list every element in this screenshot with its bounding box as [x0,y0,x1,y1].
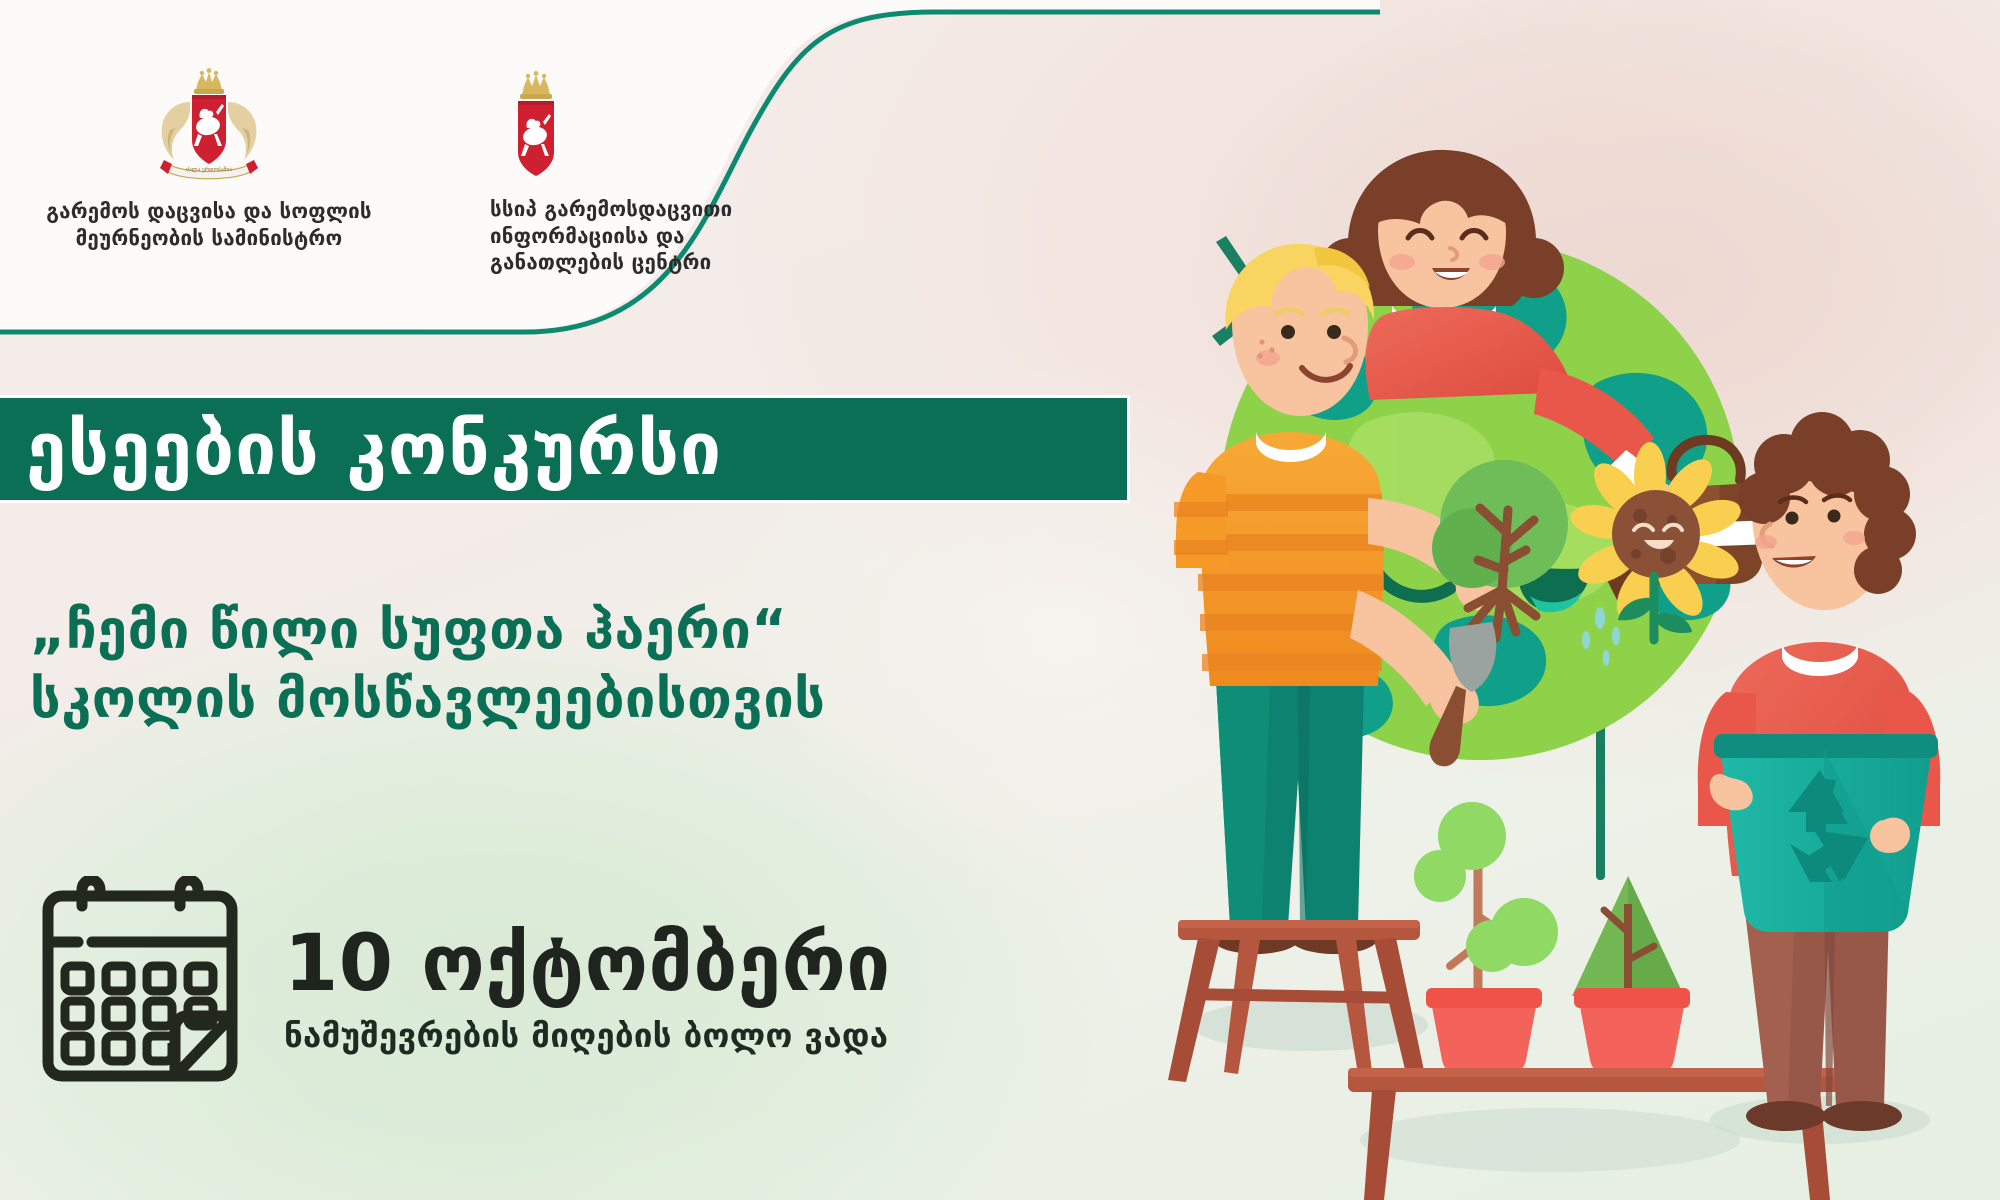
calendar-icon [34,876,246,1101]
deadline-date: 10 ოქტომბერი [284,925,891,1003]
svg-text:ძალა ერთობაშია: ძალა ერთობაშია [186,166,232,173]
recycling-bin [1710,734,1938,932]
deadline-text-block: 10 ოქტომბერი ნამუშევრების მიღების ბოლო ვ… [284,925,891,1052]
logo-center-caption: სსიპ გარემოსდაცვითი ინფორმაციისა და განა… [490,196,820,276]
logo-center: სსიპ გარემოსდაცვითი ინფორმაციისა და განა… [490,68,820,276]
subtitle-line-1: „ჩემი წილი სუფთა ჰაერი“ [30,595,1180,664]
potted-sapling-left [1414,802,1558,1076]
logo-ministry: ძალა ერთობაშია გარემოს დაცვისა და სოფლის… [44,68,374,251]
deadline-block: 10 ოქტომბერი ნამუშევრების მიღების ბოლო ვ… [34,876,891,1101]
potted-conifer-right [1572,876,1690,1076]
subtitle-line-2: სკოლის მოსწავლეებისთვის [30,664,1180,733]
subtitle-block: „ჩემი წილი სუფთა ჰაერი“ სკოლის მოსწავლეე… [30,595,1180,733]
page-title: ესეების კონკურსი [26,413,722,486]
title-band: ესეების კონკურსი [0,395,1130,503]
logo-ministry-caption: გარემოს დაცვისა და სოფლის მეურნეობის სამ… [44,198,374,251]
deadline-note: ნამუშევრების მიღების ბოლო ვადა [284,1019,891,1052]
children-planting-earth-illustration [1120,120,2000,1200]
georgia-coat-of-arms-icon: ძალა ერთობაშია [44,68,374,188]
georgia-shield-emblem-icon [490,68,820,186]
logo-row: ძალა ერთობაშია გარემოს დაცვისა და სოფლის… [0,0,900,300]
poster-root: ძალა ერთობაშია გარემოს დაცვისა და სოფლის… [0,0,2000,1200]
